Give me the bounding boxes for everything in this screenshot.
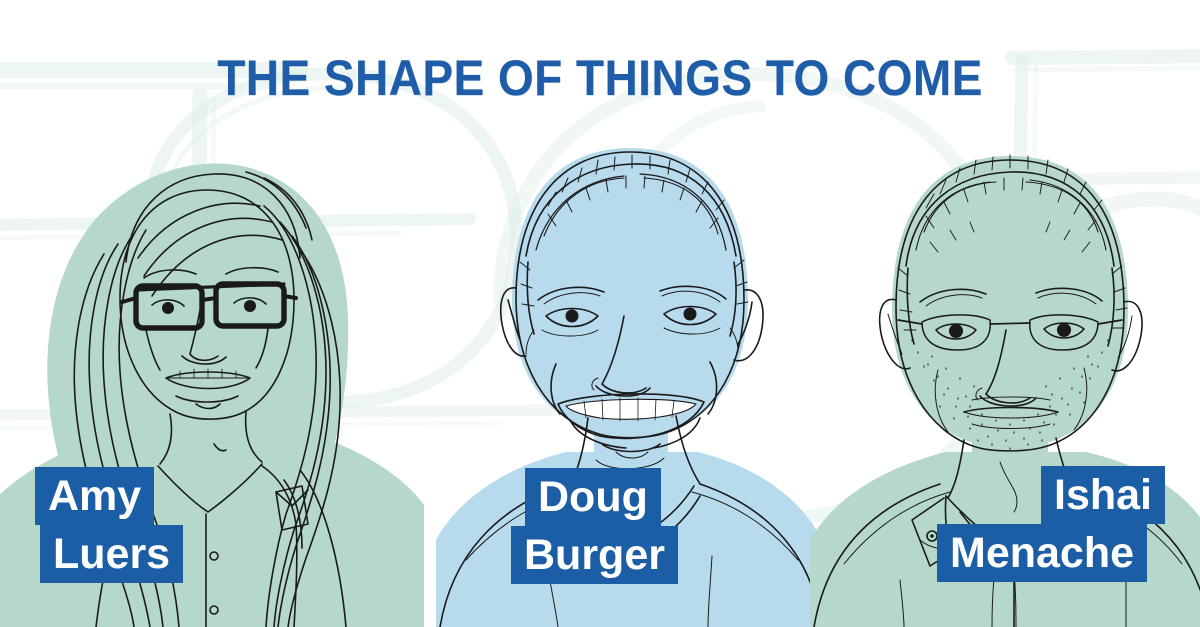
name-label-amy-luers: Amy Luers [12,467,183,583]
name-first-doug: Doug [525,468,661,526]
name-last-menache: Menache [937,524,1147,582]
name-last-burger: Burger [511,526,678,584]
name-first-amy: Amy [35,467,154,525]
name-label-ishai-menache: Ishai Menache [937,466,1165,582]
name-label-doug-burger: Doug Burger [511,468,678,584]
name-last-luers: Luers [40,525,183,583]
banner: THE SHAPE OF THINGS TO COME Amy Luers Do… [0,0,1200,627]
name-first-ishai: Ishai [1041,466,1165,524]
page-title: THE SHAPE OF THINGS TO COME [48,50,1152,106]
